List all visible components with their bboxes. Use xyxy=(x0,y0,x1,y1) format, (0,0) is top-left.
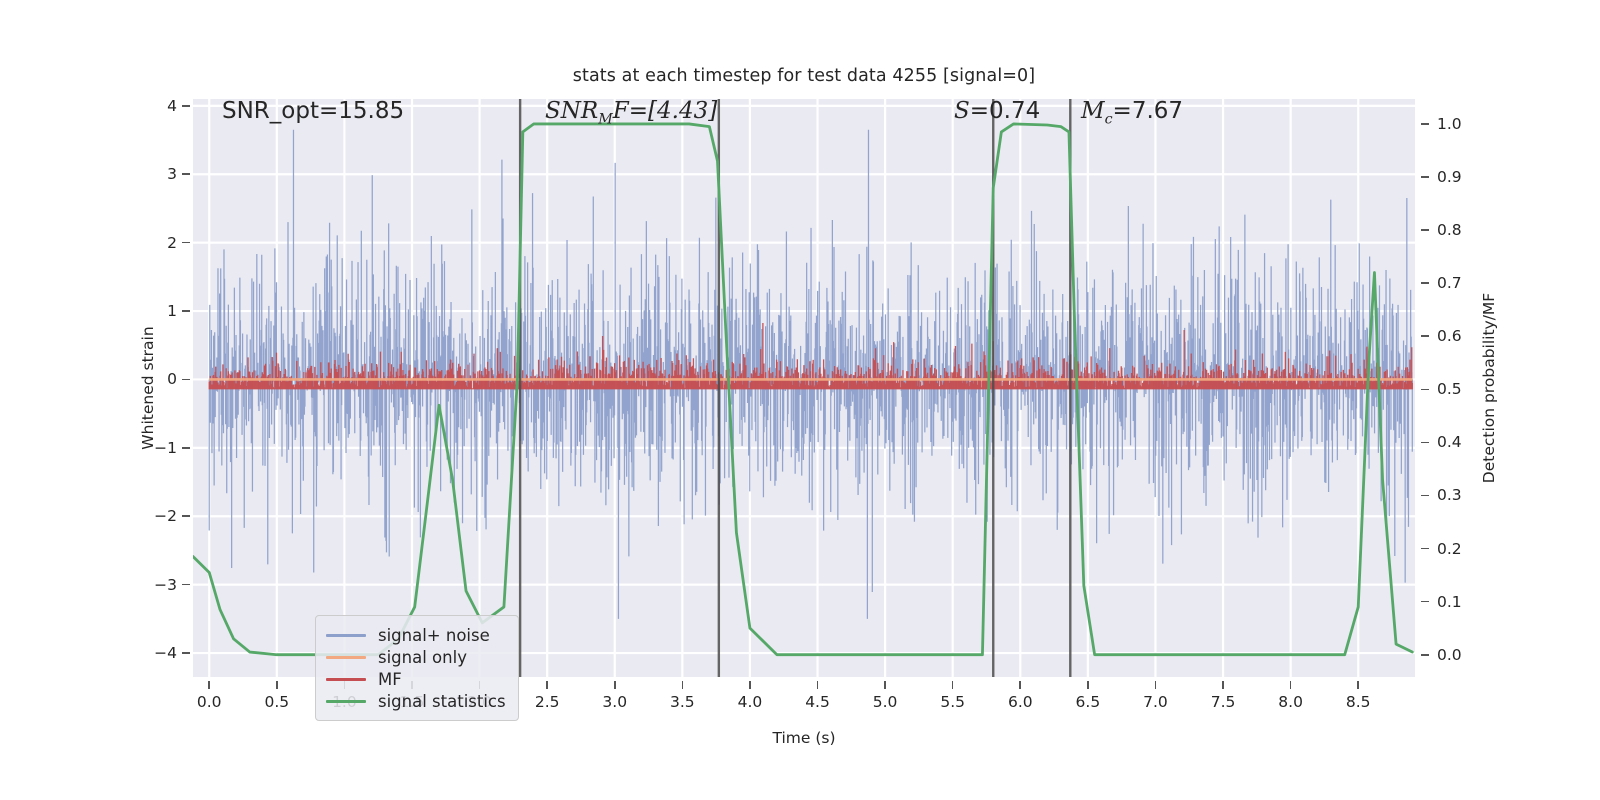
y-tick-right-mark xyxy=(1421,229,1429,231)
legend-swatch-icon xyxy=(326,634,366,637)
y-tick-left-label: −4 xyxy=(131,644,177,662)
y-tick-right-mark xyxy=(1421,442,1429,444)
legend-label: signal statistics xyxy=(378,692,506,711)
annotation-chirp-mass: Mc=7.67 xyxy=(1081,98,1183,128)
y-tick-left-mark xyxy=(182,652,190,654)
y-tick-right-mark xyxy=(1421,335,1429,337)
x-tick-mark xyxy=(1087,681,1089,689)
x-tick-label: 7.5 xyxy=(1211,693,1236,711)
legend-item[interactable]: signal+ noise xyxy=(326,624,506,646)
x-tick-label: 6.0 xyxy=(1008,693,1033,711)
legend: signal+ noisesignal onlyMFsignal statist… xyxy=(315,615,519,721)
y-tick-right-label: 0.9 xyxy=(1437,168,1462,186)
legend-label: MF xyxy=(378,670,402,689)
x-tick-mark xyxy=(749,681,751,689)
annotation-snr-mf-base: SNR xyxy=(545,98,598,124)
y-tick-left-mark xyxy=(182,310,190,312)
y-tick-right-label: 0.8 xyxy=(1437,221,1462,239)
x-tick-mark xyxy=(1290,681,1292,689)
y-tick-right-mark xyxy=(1421,123,1429,125)
x-tick-label: 3.5 xyxy=(670,693,695,711)
y-tick-right-label: 0.0 xyxy=(1437,646,1462,664)
annotation-snr-mf-tail: F=[4.43] xyxy=(613,98,717,124)
annotation-mc-sub: c xyxy=(1105,112,1113,128)
y-tick-right-label: 1.0 xyxy=(1437,115,1462,133)
y-tick-right-label: 0.2 xyxy=(1437,540,1462,558)
legend-label: signal only xyxy=(378,648,467,667)
x-tick-mark xyxy=(952,681,954,689)
x-tick-label: 4.0 xyxy=(738,693,763,711)
x-tick-mark xyxy=(276,681,278,689)
y-axis-right-label: Detection probability/MF xyxy=(1480,198,1498,578)
x-tick-label: 5.0 xyxy=(873,693,898,711)
y-tick-right-label: 0.5 xyxy=(1437,380,1462,398)
y-tick-left-mark xyxy=(182,447,190,449)
annotation-s-tail: =0.74 xyxy=(970,98,1040,124)
annotation-mc-base: M xyxy=(1081,98,1105,124)
y-tick-left-mark xyxy=(182,242,190,244)
y-tick-right-label: 0.3 xyxy=(1437,486,1462,504)
legend-swatch-icon xyxy=(326,656,366,659)
y-tick-right-mark xyxy=(1421,601,1429,603)
annotation-snr-mf-sub: M xyxy=(598,112,613,128)
x-tick-label: 5.5 xyxy=(940,693,965,711)
y-axis-left-label: Whitened strain xyxy=(139,238,157,538)
figure-canvas: stats at each timestep for test data 425… xyxy=(0,0,1600,800)
x-tick-mark xyxy=(546,681,548,689)
x-tick-label: 0.5 xyxy=(264,693,289,711)
x-tick-mark xyxy=(1357,681,1359,689)
y-tick-right-mark xyxy=(1421,548,1429,550)
x-tick-label: 7.0 xyxy=(1143,693,1168,711)
plot-svg xyxy=(193,99,1415,677)
x-tick-mark xyxy=(682,681,684,689)
plot-area xyxy=(193,99,1415,677)
y-tick-right-label: 0.6 xyxy=(1437,327,1462,345)
y-tick-left-label: −3 xyxy=(131,576,177,594)
y-tick-right-mark xyxy=(1421,654,1429,656)
legend-label: signal+ noise xyxy=(378,626,490,645)
y-tick-right-mark xyxy=(1421,495,1429,497)
x-tick-label: 8.0 xyxy=(1278,693,1303,711)
x-tick-label: 4.5 xyxy=(805,693,830,711)
y-tick-right-label: 0.7 xyxy=(1437,274,1462,292)
annotation-snr-mf: SNRMF=[4.43] xyxy=(545,98,717,128)
annotation-s-base: S xyxy=(954,98,970,124)
y-tick-right-label: 0.4 xyxy=(1437,433,1462,451)
y-tick-right-mark xyxy=(1421,389,1429,391)
legend-item[interactable]: signal statistics xyxy=(326,690,506,712)
annotation-s-stat: S=0.74 xyxy=(954,98,1040,124)
y-tick-left-mark xyxy=(182,173,190,175)
chart-title: stats at each timestep for test data 425… xyxy=(193,66,1415,86)
x-tick-mark xyxy=(817,681,819,689)
y-tick-left-mark xyxy=(182,379,190,381)
legend-item[interactable]: MF xyxy=(326,668,506,690)
y-tick-left-mark xyxy=(182,515,190,517)
legend-swatch-icon xyxy=(326,700,366,703)
x-tick-label: 8.5 xyxy=(1346,693,1371,711)
x-tick-mark xyxy=(614,681,616,689)
x-tick-label: 2.5 xyxy=(535,693,560,711)
x-tick-label: 3.0 xyxy=(602,693,627,711)
legend-swatch-icon xyxy=(326,678,366,681)
annotation-mc-tail: =7.67 xyxy=(1113,98,1183,124)
y-tick-left-label: 4 xyxy=(131,97,177,115)
y-tick-right-mark xyxy=(1421,176,1429,178)
x-tick-mark xyxy=(1019,681,1021,689)
x-tick-mark xyxy=(208,681,210,689)
x-tick-mark xyxy=(1222,681,1224,689)
legend-item[interactable]: signal only xyxy=(326,646,506,668)
y-tick-right-mark xyxy=(1421,282,1429,284)
y-tick-right-label: 0.1 xyxy=(1437,593,1462,611)
y-tick-left-mark xyxy=(182,584,190,586)
x-tick-label: 6.5 xyxy=(1076,693,1101,711)
annotation-snr-opt: SNR_opt=15.85 xyxy=(222,98,404,124)
y-tick-left-mark xyxy=(182,105,190,107)
x-axis-label: Time (s) xyxy=(193,729,1415,747)
x-tick-mark xyxy=(1155,681,1157,689)
x-tick-label: 0.0 xyxy=(197,693,222,711)
y-tick-left-label: 3 xyxy=(131,165,177,183)
x-tick-mark xyxy=(884,681,886,689)
